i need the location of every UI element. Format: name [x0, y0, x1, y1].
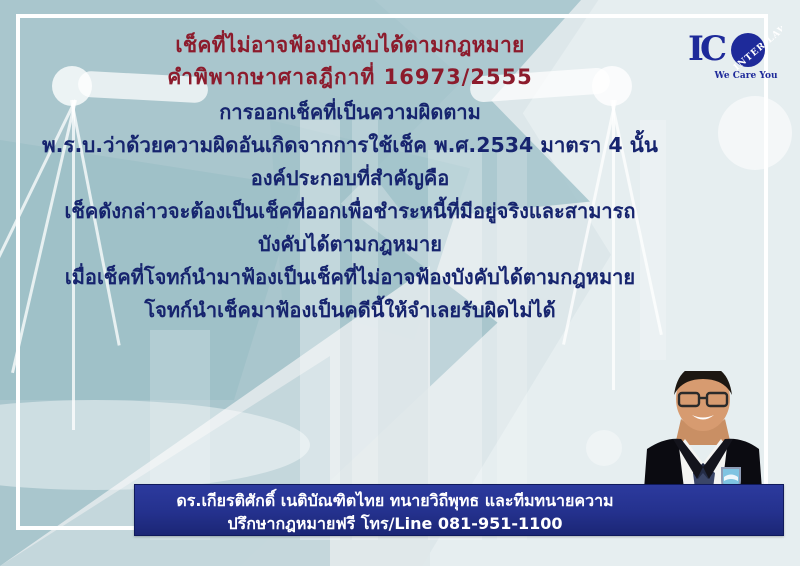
logo-icon: I C INTER LAW We Care You	[686, 26, 782, 82]
body-line-1: การออกเช็คที่เป็นความผิดตาม	[20, 99, 680, 125]
contact-banner-text: ดร.เกียรติศักดิ์ เนติบัณฑิตไทย ทนายวิถีพ…	[135, 489, 655, 535]
poster-canvas: I C INTER LAW We Care You เช็คที่ไม่อาจฟ…	[0, 0, 800, 566]
headline-line-1: เช็คที่ไม่อาจฟ้องบังคับได้ตามกฎหมาย	[20, 32, 680, 59]
headline-line-2: คำพิพากษาศาลฎีกาที่ 16973/2555	[20, 64, 680, 91]
contact-banner-line-2: ปรึกษากฎหมายฟรี โทร/Line 081-951-1100	[135, 512, 655, 535]
contact-banner: ดร.เกียรติศักดิ์ เนติบัณฑิตไทย ทนายวิถีพ…	[134, 484, 784, 536]
body-line-3: องค์ประกอบที่สำคัญคือ	[20, 165, 680, 191]
logo-tagline: We Care You	[713, 71, 777, 81]
logo-wordmark-c: C	[700, 29, 727, 69]
content-text-block: เช็คที่ไม่อาจฟ้องบังคับได้ตามกฎหมาย คำพิ…	[20, 32, 680, 323]
background-soft-circle-right	[718, 96, 792, 170]
contact-banner-line-1: ดร.เกียรติศักดิ์ เนติบัณฑิตไทย ทนายวิถีพ…	[135, 489, 655, 512]
body-line-7: โจทก์นำเช็คมาฟ้องเป็นคดีนี้ให้จำเลยรับผิ…	[20, 297, 680, 323]
body-line-2: พ.ร.บ.ว่าด้วยความผิดอันเกิดจากการใช้เช็ค…	[20, 132, 680, 159]
body-line-6: เมื่อเช็คที่โจทก์นำมาฟ้องเป็นเช็คที่ไม่อ…	[20, 264, 680, 290]
body-line-5: บังคับได้ตามกฎหมาย	[20, 231, 680, 257]
brand-logo: I C INTER LAW We Care You	[686, 26, 782, 82]
background-soft-circle-small	[586, 430, 622, 466]
body-line-4: เช็คดังกล่าวจะต้องเป็นเช็คที่ออกเพื่อชำร…	[20, 198, 680, 224]
